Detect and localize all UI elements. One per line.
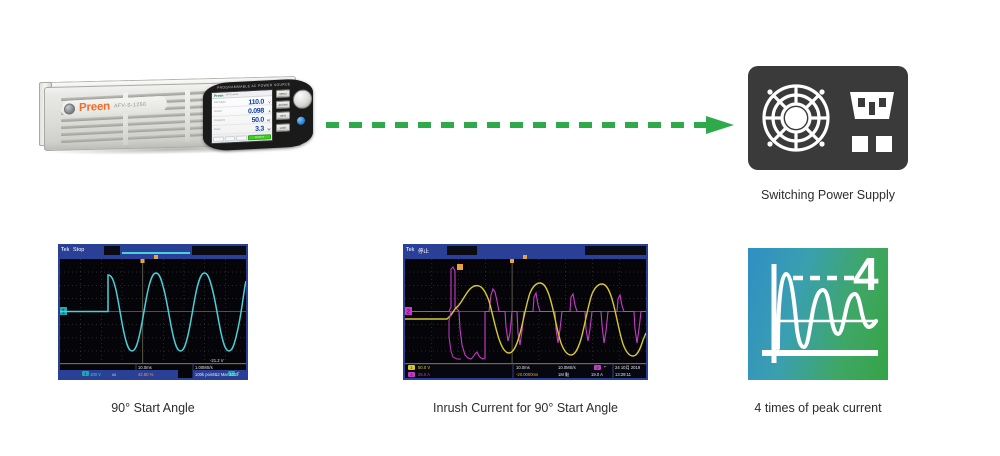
scope-screen: 1 100 V 1 ᴧᴧ 10.0ms 4 xyxy=(60,259,246,378)
scope2-record-length: 1M 點 xyxy=(558,372,569,378)
control-panel: PROGRAMMABLE AC POWER SOURCE Preen AFV-S… xyxy=(203,78,313,151)
ac-socket-icon xyxy=(850,92,894,119)
panel-title: PROGRAMMABLE AC POWER SOURCE xyxy=(217,82,290,90)
scope2-timebase: 10.0ms xyxy=(516,365,530,370)
scope2-trigger-level: 19.0 A xyxy=(591,372,603,377)
side-key-lock[interactable]: LOCK xyxy=(276,123,290,132)
fan-hub-icon xyxy=(785,107,807,129)
side-key-action[interactable]: ACTION xyxy=(276,100,290,109)
scope2-channel2-scale: 25.0 A xyxy=(418,372,430,377)
led-block-icon xyxy=(876,136,892,152)
readout-label: Power xyxy=(214,129,221,131)
scope1-trigger-level: -21.2 V xyxy=(210,358,224,363)
switching-power-supply-icon xyxy=(748,66,908,170)
brand-label: Preen xyxy=(79,101,110,115)
scope-screen: 2 1 50.0 V 2 25.0 A 10.0ms -20.0000ms xyxy=(405,259,646,378)
scope2-channel1-scale: 50.0 V xyxy=(418,365,430,370)
switching-power-supply-caption: Switching Power Supply xyxy=(748,188,908,202)
soft-button-2[interactable] xyxy=(225,136,236,142)
scope2-trigger-slope-icon: ⌐ xyxy=(604,364,607,370)
scope2-time: 13:29:11 xyxy=(615,372,631,377)
lcd-soft-buttons: OUTPUT xyxy=(212,133,272,143)
fan-screw-icon xyxy=(767,89,772,94)
readout-value: 50.0 xyxy=(252,116,264,124)
scope2-trigger-channel: 2 xyxy=(594,365,601,370)
led-block-icon xyxy=(852,136,868,152)
scope-inrush-current-caption: Inrush Current for 90° Start Angle xyxy=(383,401,668,415)
lcd-brand-label: Preen xyxy=(214,93,223,97)
scope2-channel2-badge: 2 xyxy=(408,372,415,377)
scope1-date: 12 Mar 2019 xyxy=(215,372,239,377)
readout-unit: W xyxy=(268,127,271,131)
peak-multiplier-badge: 4 xyxy=(853,248,879,300)
lcd-brand-sub: AFV-S series xyxy=(225,93,238,96)
scope2-samplerate: 10.0MS/s xyxy=(558,365,576,370)
scope2-date: 24 10月 2019 xyxy=(615,365,640,371)
soft-button-3[interactable] xyxy=(236,135,247,141)
model-label: AFV-S-1250 xyxy=(114,102,146,110)
scope-state-label: Stop xyxy=(73,247,84,253)
arrow-head-icon xyxy=(706,116,734,134)
power-led-icon xyxy=(297,117,305,125)
diagram-canvas: Preen AFV-S-1250 PROGRAMMABLE AC POWER S… xyxy=(0,0,1000,456)
soft-button-set[interactable] xyxy=(213,137,224,143)
scope-topbar: Tek 停止 xyxy=(405,246,646,259)
fan-screw-icon xyxy=(767,141,772,146)
dashed-arrow-right xyxy=(326,115,738,135)
scope-90-start-angle: Tek Stop xyxy=(58,244,248,380)
fan-screw-icon xyxy=(819,141,824,146)
readout-unit: Hz xyxy=(267,118,271,122)
scope-state-label: 停止 xyxy=(418,247,429,255)
fan-screw-icon xyxy=(819,89,824,94)
readout-label: Volt Output xyxy=(214,101,225,104)
peak-current-icon: 4 xyxy=(748,248,888,380)
scope-topbar: Tek Stop xyxy=(60,246,246,259)
peak-current-caption: 4 times of peak current xyxy=(748,401,888,415)
readout-label: Current xyxy=(214,111,222,113)
side-key-info[interactable]: INFO xyxy=(276,112,290,121)
scope-vendor-label: Tek xyxy=(406,247,414,253)
output-status-label: OUTPUT xyxy=(249,135,270,141)
readout-unit: V xyxy=(268,100,270,104)
scope-vendor-label: Tek xyxy=(61,247,69,253)
rotary-encoder-knob[interactable] xyxy=(293,89,312,109)
side-key-menu[interactable]: MENU xyxy=(276,89,290,98)
readout-unit: A xyxy=(268,109,270,113)
ac-power-source-unit: Preen AFV-S-1250 PROGRAMMABLE AC POWER S… xyxy=(44,84,312,160)
power-knob-icon[interactable] xyxy=(64,103,75,115)
lcd-screen[interactable]: Preen AFV-S series Volt Output 110.0 V C… xyxy=(211,89,273,144)
unit-front-panel: Preen AFV-S-1250 PROGRAMMABLE AC POWER S… xyxy=(44,81,296,151)
scope-90-start-angle-caption: 90° Start Angle xyxy=(58,401,248,415)
scope2-channel1-badge: 1 xyxy=(408,365,415,370)
panel-side-keys: MENU ACTION INFO LOCK xyxy=(276,89,290,134)
scope2-position: -20.0000ms xyxy=(516,372,538,377)
scope-inrush-current: Tek 停止 xyxy=(403,244,648,380)
readout-value: 3.3 xyxy=(255,125,264,132)
soft-button-output[interactable]: OUTPUT xyxy=(248,134,271,140)
readout-label: Frequency xyxy=(214,119,225,122)
